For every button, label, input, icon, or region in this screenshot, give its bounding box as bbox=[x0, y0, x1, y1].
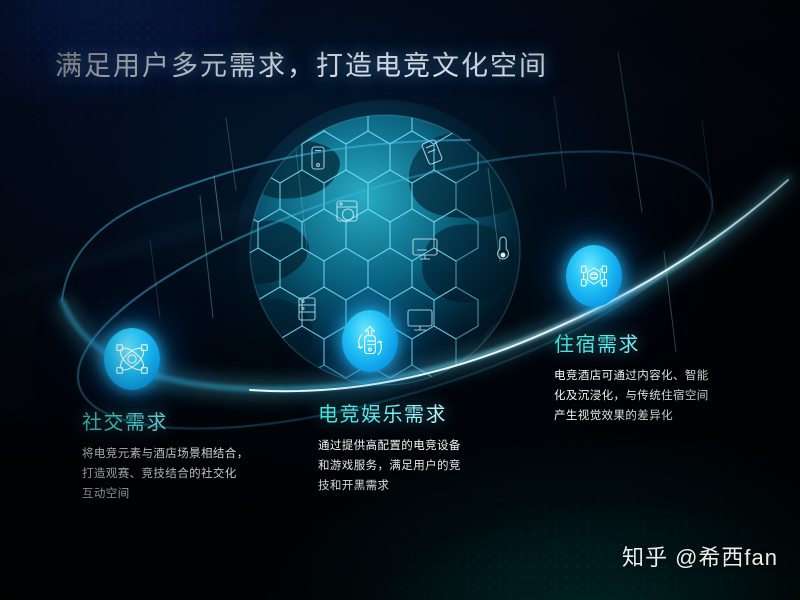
slide-canvas: 满足用户多元需求，打造电竞文化空间 bbox=[0, 0, 800, 600]
vignette-overlay bbox=[0, 0, 800, 600]
watermark: 知乎 @希西fan bbox=[622, 540, 778, 572]
